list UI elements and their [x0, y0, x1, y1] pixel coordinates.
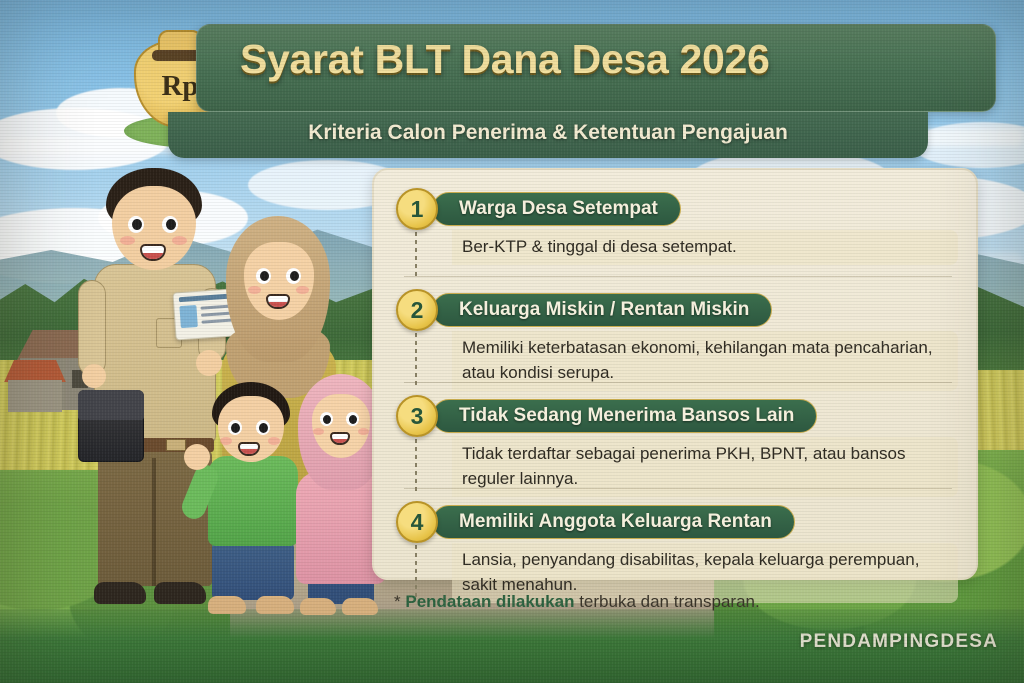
infographic-poster: Rp ✦ ✦ ✦ Syarat BLT Dana Desa 2026 Krite… [0, 0, 1024, 683]
requirement-title: Warga Desa Setempat [432, 192, 681, 226]
requirement-number-badge: 2 [396, 289, 438, 331]
footnote-rest: terbuka dan transparan. [574, 592, 759, 611]
connector-dotted-line [415, 439, 417, 491]
connector-dotted-line [415, 333, 417, 385]
item-separator [404, 488, 952, 489]
requirement-title: Memiliki Anggota Keluarga Rentan [432, 505, 795, 539]
requirement-item-4[interactable]: 4 Memiliki Anggota Keluarga Rentan Lansi… [374, 493, 980, 599]
connector-dotted-line [415, 545, 417, 597]
footnote-bold: Pendataan dilakukan [405, 592, 574, 611]
family-illustration [48, 168, 378, 628]
page-subtitle: Kriteria Calon Penerima & Ketentuan Peng… [168, 121, 928, 145]
requirement-number-badge: 4 [396, 501, 438, 543]
requirement-description: Ber-KTP & tinggal di desa setempat. [462, 234, 948, 259]
requirement-item-1[interactable]: 1 Warga Desa Setempat Ber-KTP & tinggal … [374, 180, 980, 281]
requirement-item-2[interactable]: 2 Keluarga Miskin / Rentan Miskin Memili… [374, 281, 980, 387]
footnote: * Pendataan dilakukan terbuka dan transp… [394, 592, 760, 612]
requirement-description: Lansia, penyandang disabilitas, kepala k… [462, 547, 948, 597]
requirement-title: Keluarga Miskin / Rentan Miskin [432, 293, 772, 327]
requirement-description: Memiliki keterbatasan ekonomi, kehilanga… [462, 335, 948, 385]
requirements-panel: 1 Warga Desa Setempat Ber-KTP & tinggal … [372, 168, 978, 580]
requirement-description: Tidak terdaftar sebagai penerima PKH, BP… [462, 441, 948, 491]
requirement-number-badge: 3 [396, 395, 438, 437]
requirement-item-3[interactable]: 3 Tidak Sedang Menerima Bansos Lain Tida… [374, 387, 980, 493]
requirement-number-badge: 1 [396, 188, 438, 230]
requirement-description-box: Ber-KTP & tinggal di desa setempat. [452, 230, 958, 265]
connector-dotted-line [415, 232, 417, 278]
requirement-title: Tidak Sedang Menerima Bansos Lain [432, 399, 817, 433]
page-title: Syarat BLT Dana Desa 2026 [240, 36, 960, 83]
item-separator [404, 276, 952, 277]
footnote-marker: * [394, 592, 401, 611]
waving-hand-icon [184, 444, 210, 470]
item-separator [404, 382, 952, 383]
watermark: PENDAMPINGDESA [800, 631, 998, 653]
